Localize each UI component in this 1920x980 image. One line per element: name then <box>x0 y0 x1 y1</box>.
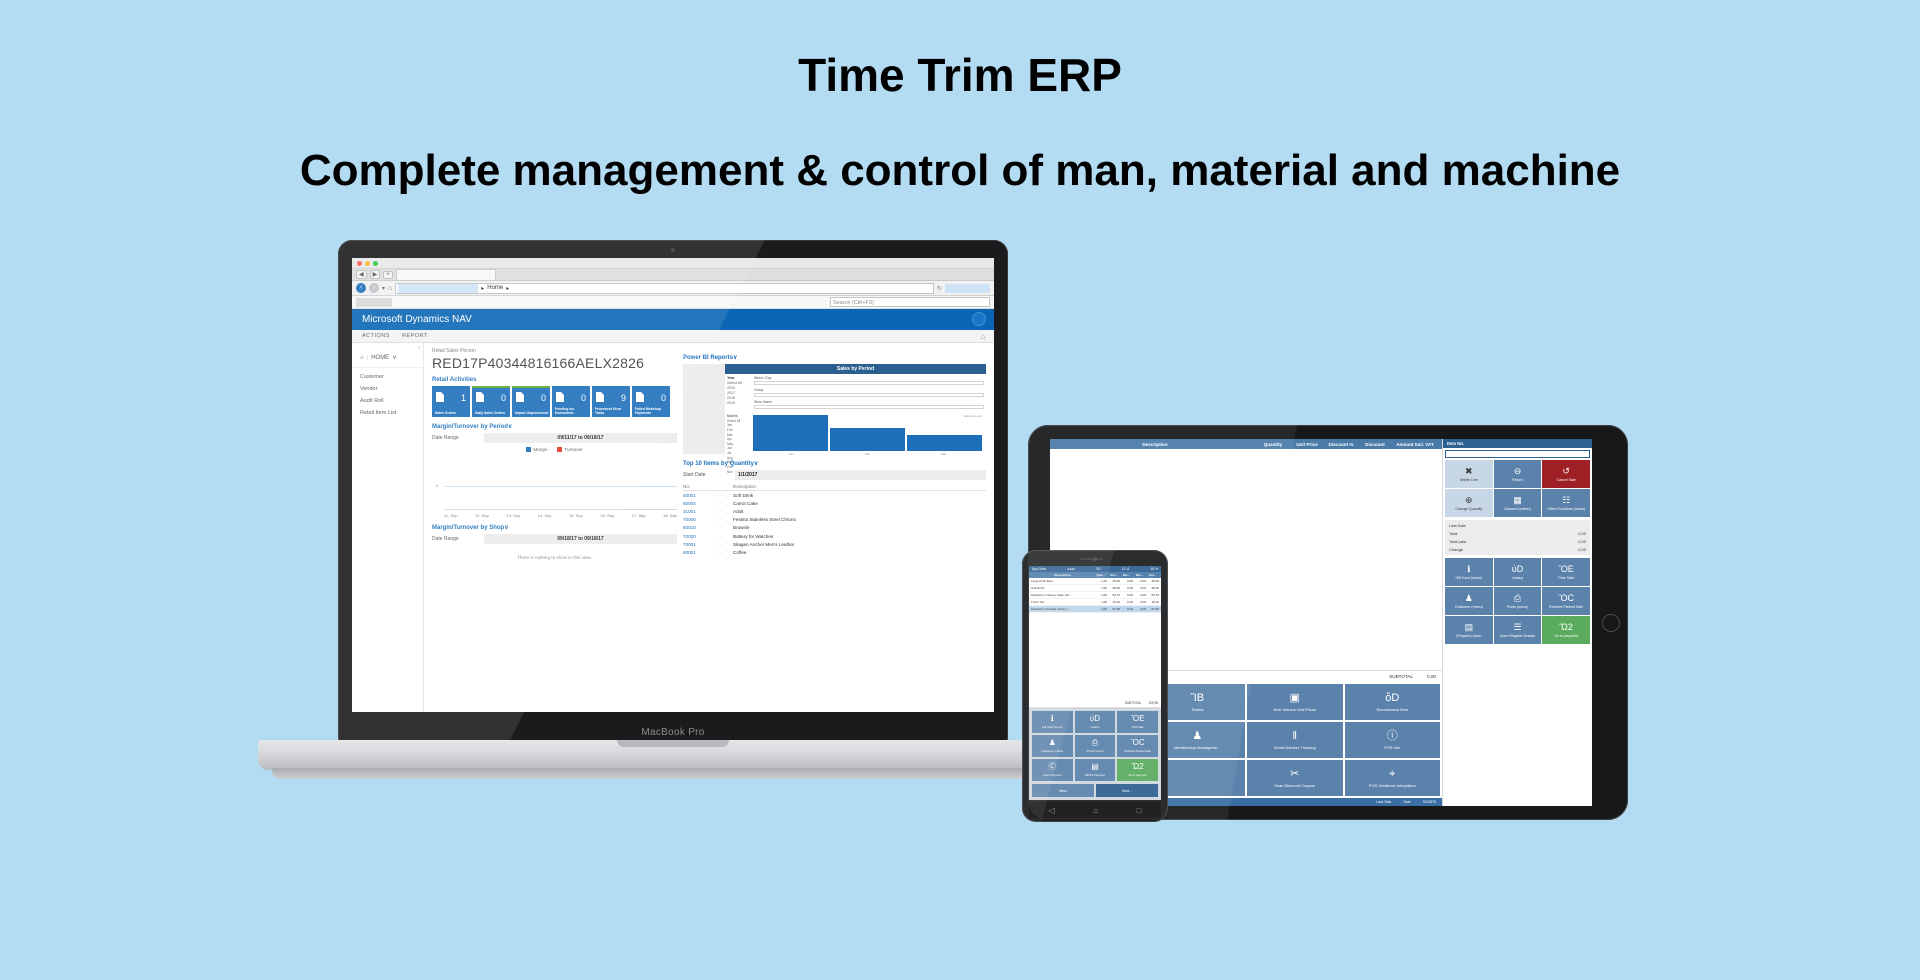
sidebar-collapse-icon[interactable]: ‹ <box>418 345 420 351</box>
table-row[interactable]: 50010···Brownie <box>683 524 986 532</box>
phone-button-label: MPOS Payment <box>1085 773 1105 777</box>
page-subtitle: Complete management & control of man, ma… <box>0 147 1920 195</box>
coupon-icon: ✂ <box>1290 769 1299 780</box>
power-bi-report[interactable]: Sales by Period Year Select All 2019 201… <box>683 364 986 454</box>
item-description: Brownie <box>733 524 986 532</box>
sidebar: ‹ ⌂ | HOME ∨ Customer Vendor Audit Roll … <box>352 343 424 712</box>
binoculars-icon: ὐD <box>1512 565 1523 574</box>
zero-line <box>444 486 677 487</box>
line-quantity: 1,00 <box>1094 579 1107 583</box>
chevron-down-icon: ∨ <box>754 461 758 467</box>
subtotal-label: SUBTOTAL <box>1125 701 1142 705</box>
line-description: Large Draft Beer <box>1031 579 1094 583</box>
group-select[interactable] <box>754 393 984 397</box>
pos-button-user[interactable]: ♟Customer (menu) <box>1445 587 1493 615</box>
phone-screen: App Store ●●●● 3G 12:11 65 % Description… <box>1029 566 1161 800</box>
back-icon[interactable]: ‹ <box>356 283 366 293</box>
pos-button-printer[interactable]: ⎙Prints (menu) <box>1494 587 1542 615</box>
margin-period-chart: 0 11. Sep 12. Sep 13. Sep 14. Sep 15. Se… <box>432 456 677 518</box>
home-icon[interactable]: ⌂ <box>1093 806 1098 815</box>
year-option[interactable]: 2015 <box>727 401 751 405</box>
search-input[interactable]: Search (Ctrl+F3) <box>830 297 990 307</box>
item-description: Adult <box>733 507 986 515</box>
phone-button-printer[interactable]: ⎙Prints (menu) <box>1075 735 1116 757</box>
laptop-screen: ◀ ▶ + ‹ › ▾ ⌂ ▸ Home ▸ ↻ <box>352 258 994 712</box>
home-button-icon[interactable] <box>1602 614 1620 632</box>
status-battery: 65 % <box>1151 567 1158 571</box>
pos-totals-panel: Last Sale Total 0,00 Total paid 0,00 Cha… <box>1445 520 1590 555</box>
col-amount: Am... <box>1146 573 1159 577</box>
recents-icon[interactable]: □ <box>1137 806 1142 815</box>
tile-import-unprocessed[interactable]: 0 Import Unprocessed <box>512 386 550 417</box>
retail-activity-tiles: 1 Sales Orders 0 Daily Sales Orders 0 <box>432 386 677 417</box>
status-signal-icon: ●●●● <box>1067 567 1075 571</box>
start-date-value[interactable]: 1/1/2017 <box>735 470 986 480</box>
phone-button-card[interactable]: ▤MPOS Payment <box>1075 759 1116 781</box>
line-description: Raspberry Roulade Tartes (... <box>1031 607 1094 611</box>
col-description: Description <box>1031 573 1094 577</box>
chart-x-labels: JanFebMar <box>753 452 982 456</box>
margin-shop-heading[interactable]: Margin/Turnover by Shop∨ <box>432 524 677 531</box>
cart-icon: Ὥ2 <box>1132 763 1144 771</box>
document-icon <box>636 392 644 402</box>
phone-button-label: Park Sale <box>1132 725 1144 729</box>
phone-lines-empty-space <box>1029 613 1161 699</box>
macbook-pro-mockup: ◀ ▶ + ‹ › ▾ ⌂ ▸ Home ▸ ↻ <box>258 240 1088 800</box>
pos-tile-info[interactable]: ⓘPOS Info <box>1345 722 1441 758</box>
line-unit-price: 53,75 <box>1107 593 1120 597</box>
sidebar-home-label: HOME <box>371 355 389 361</box>
app-title: Microsoft Dynamics NAV <box>362 314 472 325</box>
laptop-model-label: MacBook Pro <box>338 727 1008 738</box>
home-icon: ⌂ <box>360 355 364 361</box>
save-icon: ὋE <box>1559 565 1574 574</box>
browser-favorites-row: Search (Ctrl+F3) <box>352 296 994 309</box>
x-tick: 18. Sep <box>663 513 677 518</box>
row-menu-icon[interactable]: ··· <box>717 499 733 507</box>
back-icon[interactable]: ◁ <box>1048 806 1054 815</box>
window-titlebar <box>352 258 994 269</box>
row-menu-icon[interactable]: ··· <box>717 516 733 524</box>
row-menu-icon[interactable]: ··· <box>717 532 733 540</box>
top-items-table: No. Description 40001···Soft Drink50004·… <box>683 482 986 557</box>
laptop-lid: ◀ ▶ + ‹ › ▾ ⌂ ▸ Home ▸ ↻ <box>338 240 1008 742</box>
phone-button-briefcase[interactable]: ὋCRetrieve Parked Sale <box>1117 735 1158 757</box>
status-sale-label: Sale <box>1403 800 1410 804</box>
chart-x-tick: Jan <box>789 452 794 456</box>
pos-button-cart[interactable]: Ὥ2Go to payment <box>1542 616 1590 644</box>
chevron-down-icon[interactable]: ▾ <box>382 285 385 292</box>
speaker-icon <box>1079 558 1103 560</box>
card-icon: ▤ <box>1465 623 1474 632</box>
pos-button-label: Retrieve Parked Sale <box>1549 605 1583 609</box>
document-icon <box>476 392 484 402</box>
minimize-window-icon[interactable] <box>365 261 370 266</box>
undo-icon: ↺ <box>1562 467 1570 476</box>
save-icon: ὋE <box>1131 715 1145 723</box>
line-amount: 38,00 <box>1146 586 1159 590</box>
minus-circle-icon: ⊖ <box>1514 467 1522 476</box>
pos-button-briefcase[interactable]: ὋCRetrieve Parked Sale <box>1542 587 1590 615</box>
printer-icon: ⎙ <box>1514 594 1521 603</box>
subtotal-value: 109,95 <box>1148 701 1158 705</box>
chart-bar <box>907 435 982 451</box>
item-no[interactable]: 31001 <box>683 507 717 515</box>
front-camera-icon <box>1093 557 1097 561</box>
item-no[interactable]: 60001 <box>683 548 717 556</box>
status-time: 12:11 <box>1122 567 1130 571</box>
close-window-icon[interactable] <box>357 261 362 266</box>
line-quantity: 1,00 <box>1094 600 1107 604</box>
briefcase-icon: ὋC <box>1131 739 1145 747</box>
x-tick: 12. Sep <box>475 513 489 518</box>
cart-icon: Ὥ2 <box>1559 623 1573 632</box>
refresh-icon[interactable]: ↻ <box>937 285 942 292</box>
line-discount: 0,00 <box>1133 593 1146 597</box>
phone-button-gift-card[interactable]: ℹGift Card (menu) <box>1032 711 1073 733</box>
sidebar-item-vendor[interactable]: Vendor <box>360 386 423 392</box>
sidebar-item-audit-roll[interactable]: Audit Roll <box>360 398 423 404</box>
pos-button-label: Go to payment <box>1554 634 1578 638</box>
subtotal-label: SUBTOTAL <box>1389 674 1413 679</box>
line-amount: 67,95 <box>1146 607 1159 611</box>
phone-sales-line[interactable]: Soft Drink1,0038,000,000,0038,00 <box>1029 585 1161 592</box>
date-range-label: Date Range <box>432 435 484 441</box>
pos-button-gift-card[interactable]: ℹGift Card (menu) <box>1445 558 1493 586</box>
x-tick: 11. Sep <box>444 513 458 518</box>
url-input[interactable]: ▸ Home ▸ <box>395 283 934 294</box>
favorites-tab[interactable] <box>356 298 392 307</box>
pos-button-minus-circle[interactable]: ⊖Return <box>1494 460 1542 488</box>
line-description: Raspberry Cheese Cake (48... <box>1031 593 1094 597</box>
record-id: RED17P40344816166AELX2826 <box>432 355 677 371</box>
tile-processed-error-tasks[interactable]: 9 Processed Error Tasks <box>592 386 630 417</box>
tile-failed-webshop-payments[interactable]: 0 Failed Webshop Payments <box>632 386 670 417</box>
x-axis-line <box>444 509 677 510</box>
line-quantity: 1,00 <box>1094 607 1107 611</box>
date-range-value[interactable]: 09/11/17 to 09/18/17 <box>484 433 677 443</box>
power-bi-chart-wrap: Months Select All Jan Feb Mar Apr May Ju… <box>725 414 986 476</box>
x-tick: 17. Sep <box>632 513 646 518</box>
retail-activities-heading: Retail Activities <box>432 377 677 383</box>
table-row[interactable]: 70020···Battery for Watches <box>683 532 986 540</box>
tile-value: 0 <box>661 393 666 403</box>
ribbon-tab-actions[interactable]: ACTIONS <box>362 333 390 339</box>
pos-button-plus-circle[interactable]: ⊕Change Quantity <box>1445 489 1493 517</box>
phone-shell: App Store ●●●● 3G 12:11 65 % Description… <box>1022 550 1168 822</box>
table-body: 40001···Soft Drink50004···Carrot Cake310… <box>683 491 986 557</box>
pos-button-undo[interactable]: ↺Cancel Sale <box>1542 460 1590 488</box>
chevron-down-icon: ∨ <box>733 355 737 361</box>
grid-icon: ☷ <box>1562 496 1570 505</box>
total-label: Total <box>1449 531 1457 536</box>
user-avatar[interactable] <box>972 312 986 326</box>
legend-margin: Margin <box>526 447 547 452</box>
item-description: Soft Drink <box>733 491 986 500</box>
phone-button-binoculars[interactable]: ὐDLookup <box>1075 711 1116 733</box>
phone-button-cart[interactable]: Ὥ2Go to payment <box>1117 759 1158 781</box>
briefcase-icon: ὋC <box>1558 594 1574 603</box>
power-bi-heading[interactable]: Power BI Reports∨ <box>683 354 986 361</box>
tile-value: 9 <box>621 393 626 403</box>
power-bi-selects: Week / Day Group Store Name <box>754 376 984 412</box>
android-nav-bar: ◁ ⌂ □ <box>1029 802 1161 818</box>
chart-bar <box>830 428 905 451</box>
item-no[interactable]: 50004 <box>683 499 717 507</box>
phone-button-label: Gift Card (menu) <box>1042 725 1063 729</box>
card-icon: ▤ <box>1091 763 1099 771</box>
status-app-name: App Store <box>1032 567 1046 571</box>
record-type-label: Retail Sales Person <box>432 348 677 354</box>
table-row[interactable]: 70006···Festina Stainless Steel Chrono <box>683 516 986 524</box>
phone-subtotal-row: SUBTOTAL 109,95 <box>1029 699 1161 708</box>
chart-x-tick: Feb <box>865 452 870 456</box>
power-bi-title: Power BI Reports <box>683 355 733 361</box>
col-discount-pct: Dis... <box>1120 573 1133 577</box>
browser-tab[interactable] <box>396 269 496 280</box>
tile-label: Sales Orders <box>435 411 469 415</box>
y-axis-zero-label: 0 <box>436 483 438 488</box>
phone-button-label: Go to payment <box>1128 773 1146 777</box>
line-amount: 15,00 <box>1146 600 1159 604</box>
breadcrumb-arrow-2: ▸ <box>506 285 509 292</box>
x-axis-ticks: 11. Sep 12. Sep 13. Sep 14. Sep 15. Sep … <box>444 513 677 518</box>
phone-button-label: Lookup <box>1090 725 1099 729</box>
phone-sales-line[interactable]: Fresh Tea1,0015,000,000,0015,00 <box>1029 599 1161 606</box>
phone-sales-line[interactable]: Large Draft Beer1,0045,000,000,0045,00 <box>1029 578 1161 585</box>
status-sale-value: S0/3575 <box>1423 800 1436 804</box>
search-box[interactable] <box>945 284 990 293</box>
user-icon: ♟ <box>1049 739 1056 747</box>
browser-address-bar: ‹ › ▾ ⌂ ▸ Home ▸ ↻ <box>352 281 994 296</box>
pos-side-top-buttons: ✖Delete Line⊖Return↺Cancel Sale⊕Change Q… <box>1443 460 1592 517</box>
pos-tile-label: POS Info <box>1384 745 1400 750</box>
power-bi-blank-panel <box>683 364 725 454</box>
sidebar-item-retail-item-list[interactable]: Retail Item List <box>360 410 423 416</box>
headline-block: Time Trim ERP Complete management & cont… <box>0 0 1920 195</box>
store-name-label: Store Name <box>754 400 984 404</box>
line-unit-price: 38,00 <box>1107 586 1120 590</box>
table-row[interactable]: 60001···Coffee <box>683 548 986 556</box>
year-filter[interactable]: Year Select All 2019 2017 2016 2015 <box>727 376 751 412</box>
page-title: Time Trim ERP <box>0 50 1920 101</box>
thumbs-up-icon: ὄD <box>1385 693 1399 704</box>
tile-label: Processed Error Tasks <box>595 407 629 416</box>
x-tick: 16. Sep <box>600 513 614 518</box>
table-row[interactable]: 31001···Adult <box>683 507 986 515</box>
year-option[interactable]: Select All <box>727 381 751 385</box>
pos-tile-label: Scan Discount Coupon <box>1274 783 1315 788</box>
laptop-base-edge <box>272 768 1074 779</box>
pos-tile-label: Recommend Item <box>1376 707 1408 712</box>
pos-button-binoculars[interactable]: ὐDLookup <box>1494 558 1542 586</box>
table-row[interactable]: 50004···Carrot Cake <box>683 499 986 507</box>
phone-button-cash[interactable]: ⒸCash Payment <box>1032 759 1073 781</box>
total-value: 0,00 <box>1578 531 1586 536</box>
pos-button-close[interactable]: ✖Delete Line <box>1445 460 1493 488</box>
table-row[interactable]: 70001···Skagen Ancher Men's Leather <box>683 540 986 548</box>
app-body: ‹ ⌂ | HOME ∨ Customer Vendor Audit Roll … <box>352 343 994 712</box>
close-icon: ✖ <box>1465 467 1473 476</box>
pos-side-panel: Item No. ✖Delete Line⊖Return↺Cancel Sale… <box>1442 439 1592 806</box>
chart-bars <box>753 415 982 451</box>
more-button[interactable]: More... <box>1096 784 1158 797</box>
phone-sales-line[interactable]: Raspberry Roulade Tartes (...1,0067,950,… <box>1029 606 1161 613</box>
date-range-value[interactable]: 09/18/17 to 09/18/17 <box>484 534 677 544</box>
item-description: Battery for Watches <box>733 532 986 540</box>
forward-icon[interactable]: › <box>369 283 379 293</box>
item-no[interactable]: 70001 <box>683 540 717 548</box>
drawer-icon: ☰ <box>1513 623 1521 632</box>
pos-button-calculator[interactable]: ▦Discount (menu) <box>1494 489 1542 517</box>
chevron-down-icon: ∨ <box>508 424 512 430</box>
item-no-input[interactable] <box>1445 450 1590 458</box>
tile-pending-inc-documents[interactable]: 0 Pending Inc. Documents <box>552 386 590 417</box>
sidebar-item-home[interactable]: ⌂ | HOME ∨ <box>352 348 423 368</box>
tile-sales-orders[interactable]: 1 Sales Orders <box>432 386 470 417</box>
row-menu-icon[interactable]: ··· <box>717 524 733 532</box>
power-bi-panel: Sales by Period Year Select All 2019 201… <box>725 364 986 454</box>
pos-tile-box[interactable]: ▣Item Various Unit Prices <box>1247 684 1343 720</box>
item-description: Festina Stainless Steel Chrono <box>733 516 986 524</box>
pos-button-label: (Prepper) Open <box>1456 634 1481 638</box>
ribbon-tab-report[interactable]: REPORT <box>402 333 428 339</box>
chart-bar <box>753 415 828 451</box>
power-bi-filters: Year Select All 2019 2017 2016 2015 Week… <box>725 374 986 414</box>
pos-tile-barcode[interactable]: ‖Serial Number Tracking <box>1247 722 1343 758</box>
legend-turnover: Turnover <box>557 447 582 452</box>
col-unit-price: Unit Price <box>1290 442 1324 447</box>
sales-by-period-bar-chart: Sales Amount JanFebMar <box>751 414 984 456</box>
total-row: Total 0,00 <box>1449 531 1586 536</box>
pos-grid-header: Description Quantity Unit Price Discount… <box>1050 439 1442 449</box>
new-tab-button[interactable]: + <box>383 271 393 279</box>
phone-button-label: Retrieve Parked Sale <box>1124 749 1150 753</box>
phone-sales-line[interactable]: Raspberry Cheese Cake (48...1,0053,750,0… <box>1029 592 1161 599</box>
line-discount-pct: 0,00 <box>1120 593 1133 597</box>
margin-period-heading[interactable]: Margin/Turnover by Period∨ <box>432 423 677 430</box>
table-row[interactable]: 40001···Soft Drink <box>683 491 986 500</box>
line-discount: 0,00 <box>1133 579 1146 583</box>
row-menu-icon[interactable]: ··· <box>717 491 733 500</box>
pos-button-card[interactable]: ▤(Prepper) Open <box>1445 616 1493 644</box>
sidebar-item-customer[interactable]: Customer <box>360 374 423 380</box>
pos-button-save[interactable]: ὋEPark Sale <box>1542 558 1590 586</box>
phone-footer-buttons: Items More... <box>1029 784 1161 800</box>
store-name-select[interactable] <box>754 405 984 409</box>
breadcrumb-home[interactable]: Home <box>487 285 503 291</box>
week-day-select[interactable] <box>754 381 984 385</box>
tab-forward-icon[interactable]: ▶ <box>370 270 381 279</box>
col-description: Description <box>1054 442 1256 447</box>
x-tick: 13. Sep <box>506 513 520 518</box>
year-option[interactable]: 2019 <box>727 386 751 390</box>
row-menu-icon[interactable]: ··· <box>717 540 733 548</box>
tile-daily-sales-orders[interactable]: 0 Daily Sales Orders <box>472 386 510 417</box>
phone-button-label: Customer (menu) <box>1041 749 1063 753</box>
tile-label: Failed Webshop Payments <box>635 407 669 416</box>
row-menu-icon[interactable]: ··· <box>717 507 733 515</box>
pos-tile-label: Serial Number Tracking <box>1274 745 1316 750</box>
x-tick: 14. Sep <box>538 513 552 518</box>
pos-tile-coupon[interactable]: ✂Scan Discount Coupon <box>1247 760 1343 796</box>
phone-button-save[interactable]: ὋEPark Sale <box>1117 711 1158 733</box>
pos-button-label: Gift Card (menu) <box>1455 576 1482 580</box>
app-ribbon: ACTIONS REPORT ⌂ <box>352 330 994 343</box>
items-button[interactable]: Items <box>1032 784 1094 797</box>
app-titlebar: Microsoft Dynamics NAV <box>352 309 994 330</box>
chevron-down-icon: ∨ <box>392 354 396 361</box>
geo-icon: ⌖ <box>1389 769 1395 780</box>
phone-sales-lines: Large Draft Beer1,0045,000,000,0045,00So… <box>1029 578 1161 613</box>
pos-button-label: Customer (menu) <box>1455 605 1483 609</box>
item-no-label: Item No. <box>1443 439 1592 448</box>
tab-back-icon[interactable]: ◀ <box>356 270 367 279</box>
empty-view-message: There is nothing to show in this view. <box>432 555 677 560</box>
line-unit-price: 15,00 <box>1107 600 1120 604</box>
item-no[interactable]: 50010 <box>683 524 717 532</box>
chevron-down-icon: ∨ <box>504 525 508 531</box>
start-date-label: Start Date <box>683 472 735 478</box>
x-tick: 15. Sep <box>569 513 583 518</box>
line-quantity: 1,00 <box>1094 586 1107 590</box>
total-paid-row: Total paid 0,00 <box>1449 539 1586 544</box>
pos-button-label: Change Quantity <box>1455 507 1482 511</box>
laptop-base <box>258 740 1088 770</box>
group-label: Group <box>754 388 984 392</box>
item-no[interactable]: 40001 <box>683 491 717 500</box>
item-description: Coffee <box>733 548 986 556</box>
line-unit-price: 67,95 <box>1107 607 1120 611</box>
home-icon[interactable]: ⌂ <box>388 285 392 292</box>
year-option[interactable]: 2017 <box>727 391 751 395</box>
margin-period-daterange: Date Range 09/11/17 to 09/18/17 <box>432 433 677 443</box>
table-header-row: No. Description <box>683 482 986 491</box>
user-icon: ♟ <box>1465 594 1473 603</box>
chart-x-tick: Mar <box>941 452 946 456</box>
year-option[interactable]: 2016 <box>727 396 751 400</box>
line-discount-pct: 0,00 <box>1120 579 1133 583</box>
gift-card-icon: ℹ <box>1467 565 1470 574</box>
item-no[interactable]: 70006 <box>683 516 717 524</box>
pos-button-label: Prints (menu) <box>1507 605 1529 609</box>
col-amount: Amount Incl. VAT <box>1392 442 1438 447</box>
item-no[interactable]: 70020 <box>683 532 717 540</box>
tile-value: 1 <box>461 393 466 403</box>
pos-tile-label: POS Geofence Integration <box>1369 783 1416 788</box>
pos-button-drawer[interactable]: ☰Open Register Drawer <box>1494 616 1542 644</box>
col-quantity: Qua... <box>1094 573 1107 577</box>
pos-tile-geo[interactable]: ⌖POS Geofence Integration <box>1345 760 1441 796</box>
col-discount: Dis... <box>1133 573 1146 577</box>
pos-tile-thumbs-up[interactable]: ὄDRecommend Item <box>1345 684 1441 720</box>
status-network: 3G <box>1096 567 1100 571</box>
col-discount: Discount <box>1358 442 1392 447</box>
maximize-window-icon[interactable] <box>373 261 378 266</box>
phone-button-user[interactable]: ♟Customer (menu) <box>1032 735 1073 757</box>
line-discount: 0,00 <box>1133 600 1146 604</box>
col-quantity: Quantity <box>1256 442 1290 447</box>
line-discount-pct: 0,00 <box>1120 600 1133 604</box>
row-menu-icon[interactable]: ··· <box>717 548 733 556</box>
webcam-icon <box>671 248 675 252</box>
plus-circle-icon: ⊕ <box>1465 496 1473 505</box>
pos-tile-label: Item Various Unit Prices <box>1273 707 1316 712</box>
line-amount: 45,00 <box>1146 579 1159 583</box>
home-icon[interactable]: ⌂ <box>981 332 986 341</box>
pos-button-grid[interactable]: ☷Other Functions (menu) <box>1542 489 1590 517</box>
total-paid-value: 0,00 <box>1578 539 1586 544</box>
